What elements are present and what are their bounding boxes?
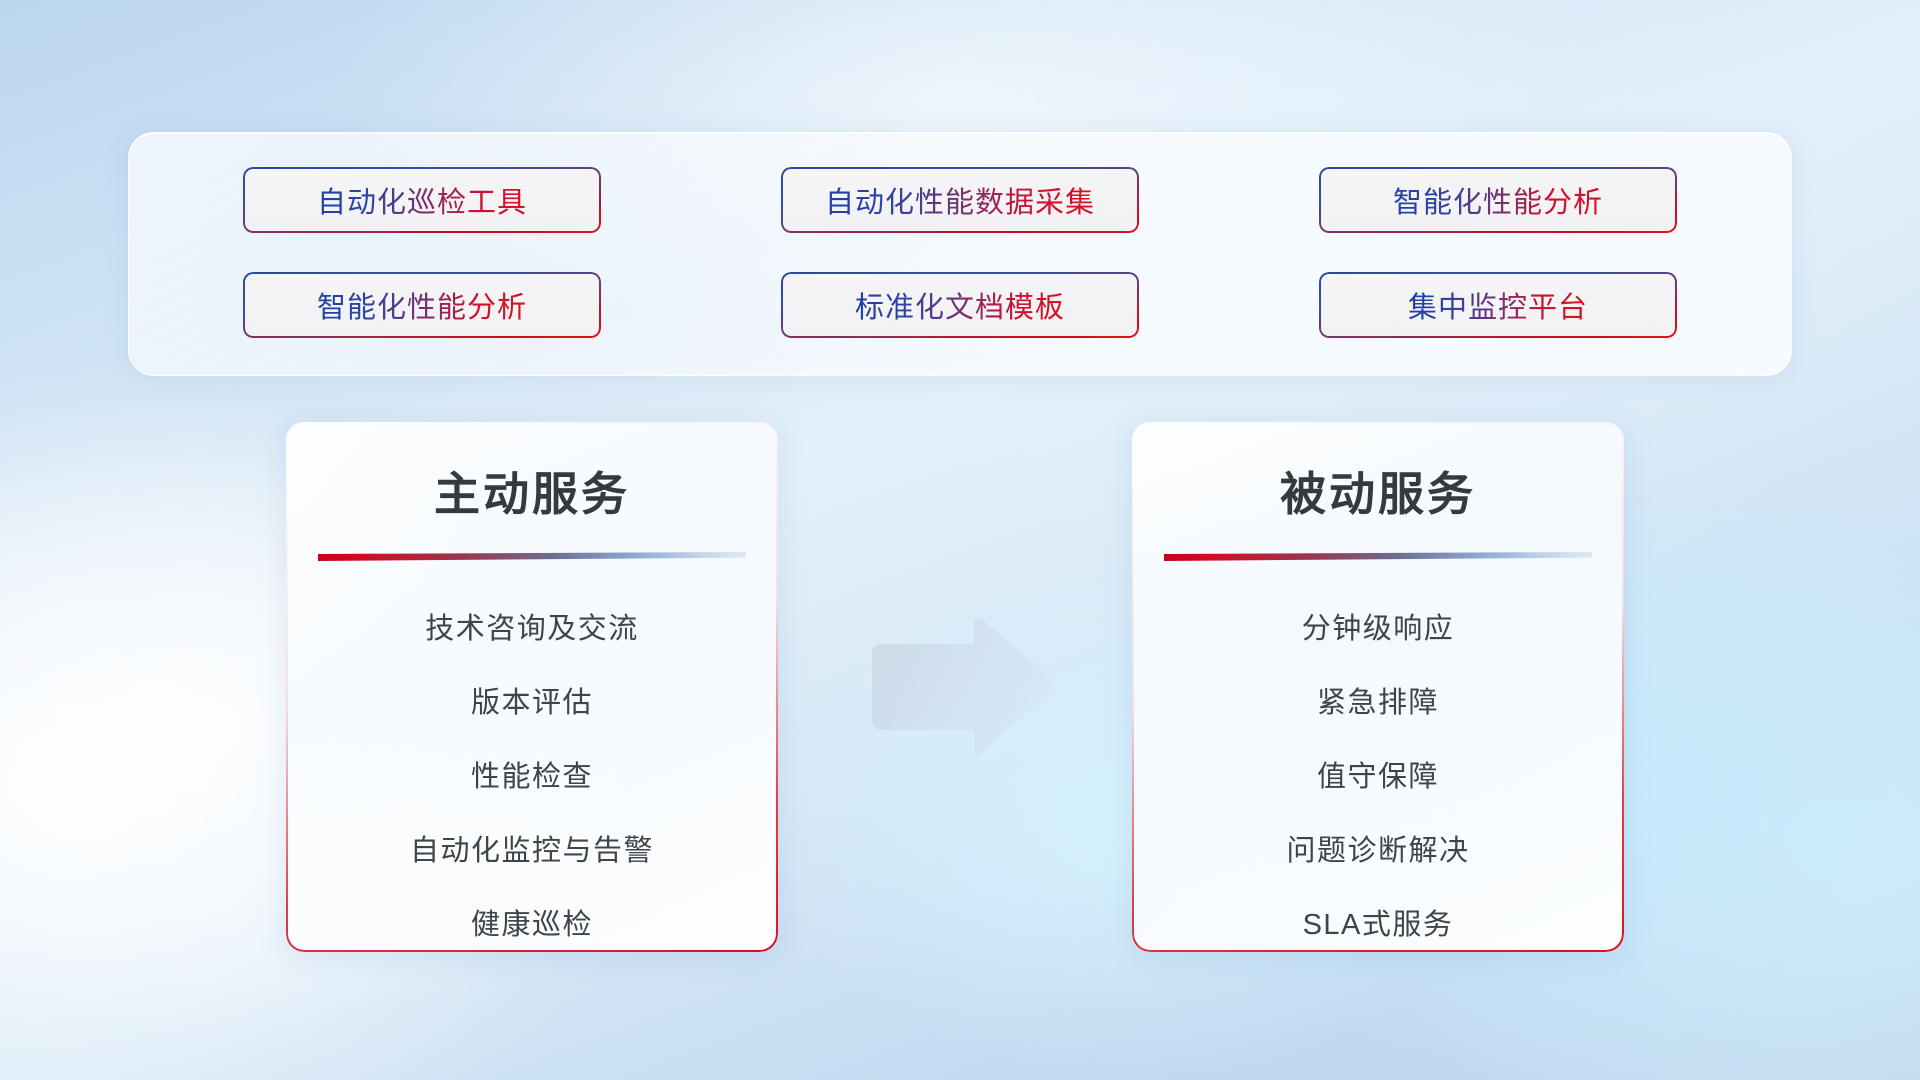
list-item: 紧急排障 — [1317, 679, 1439, 721]
capability-pill-label: 智能化性能分析 — [317, 284, 527, 326]
service-card-list: 技术咨询及交流 版本评估 性能检查 自动化监控与告警 健康巡检 — [286, 605, 778, 943]
capability-panel: 自动化巡检工具 自动化性能数据采集 智能化性能分析 智能化性能分析 标准化文档模… — [128, 132, 1792, 376]
capability-pill-label: 自动化巡检工具 — [317, 179, 527, 221]
list-item: 自动化监控与告警 — [410, 827, 654, 869]
list-item: 健康巡检 — [471, 901, 593, 943]
capability-pill-grid: 自动化巡检工具 自动化性能数据采集 智能化性能分析 智能化性能分析 标准化文档模… — [129, 133, 1791, 375]
diagram-canvas: 自动化巡检工具 自动化性能数据采集 智能化性能分析 智能化性能分析 标准化文档模… — [0, 0, 1920, 1080]
service-card-divider — [1164, 552, 1592, 561]
service-card-passive: 被动服务 分钟级响应 紧急排障 值守保障 问题诊断解决 SLA式服务 — [1132, 422, 1624, 952]
capability-pill-4[interactable]: 智能化性能分析 — [243, 272, 601, 338]
capability-pill-1[interactable]: 自动化巡检工具 — [243, 167, 601, 233]
list-item: 值守保障 — [1317, 753, 1439, 795]
capability-pill-label: 集中监控平台 — [1408, 284, 1588, 326]
capability-pill-label: 自动化性能数据采集 — [825, 179, 1095, 221]
capability-pill-label: 标准化文档模板 — [855, 284, 1065, 326]
list-item: 分钟级响应 — [1302, 605, 1455, 647]
list-item: SLA式服务 — [1303, 901, 1454, 943]
service-card-title: 主动服务 — [286, 458, 778, 524]
service-card-title: 被动服务 — [1132, 458, 1624, 524]
service-card-active: 主动服务 技术咨询及交流 版本评估 性能检查 自动化监控与告警 健康巡检 — [286, 422, 778, 952]
capability-pill-5[interactable]: 标准化文档模板 — [781, 272, 1139, 338]
list-item: 问题诊断解决 — [1286, 827, 1469, 869]
list-item: 版本评估 — [471, 679, 593, 721]
capability-pill-6[interactable]: 集中监控平台 — [1319, 272, 1677, 338]
service-card-list: 分钟级响应 紧急排障 值守保障 问题诊断解决 SLA式服务 — [1132, 605, 1624, 943]
service-card-divider — [318, 552, 746, 561]
list-item: 性能检查 — [471, 753, 593, 795]
list-item: 技术咨询及交流 — [425, 605, 639, 647]
capability-pill-3[interactable]: 智能化性能分析 — [1319, 167, 1677, 233]
capability-pill-2[interactable]: 自动化性能数据采集 — [781, 167, 1139, 233]
capability-pill-label: 智能化性能分析 — [1393, 179, 1603, 221]
right-arrow-icon — [866, 614, 1058, 760]
